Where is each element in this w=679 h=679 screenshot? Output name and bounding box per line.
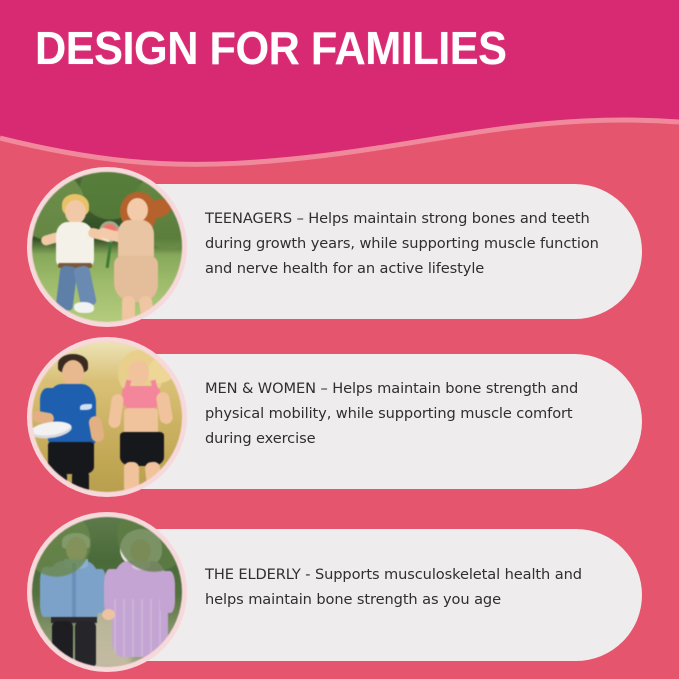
senior-woman-right-arm	[160, 571, 175, 613]
adult-woman-left-arm	[108, 393, 125, 428]
child-girl-head	[127, 198, 148, 222]
child-boy-shirt	[56, 222, 94, 267]
child-girl-right-leg	[138, 295, 154, 321]
senior-man-hair	[62, 533, 90, 549]
adult-man-left-leg	[50, 470, 67, 492]
senior-woman-head	[130, 539, 151, 563]
senior-woman-hair	[120, 529, 162, 567]
adult-man-head	[62, 360, 84, 386]
photo-the-elderly	[32, 517, 182, 667]
senior-woman-neckline	[132, 561, 150, 570]
senior-man-head	[66, 537, 87, 562]
child-boy-shoe	[74, 302, 94, 313]
senior-man-collar	[64, 559, 88, 569]
photo-men-and-women	[32, 342, 182, 492]
child-girl-left-leg	[122, 296, 135, 322]
photo-ring-men-and-women	[27, 337, 187, 497]
adult-man-shirt-logo	[80, 404, 92, 410]
card-text-men-and-women: MEN & WOMEN – Helps maintain bone streng…	[205, 376, 605, 451]
rows-container: TEENAGERS – Helps maintain strong bones …	[0, 0, 679, 679]
child-boy-right-leg	[73, 265, 97, 307]
infographic-page: { "header": { "title": "DESIGN FOR FAMIL…	[0, 0, 679, 679]
senior-man-right-leg	[75, 621, 96, 667]
photo-teenagers	[32, 172, 182, 322]
senior-woman-dress-pleats	[114, 599, 166, 657]
adult-woman-left-leg	[124, 462, 139, 492]
photo-ring-teenagers	[27, 167, 187, 327]
senior-woman-hand	[102, 609, 115, 620]
card-text-teenagers: TEENAGERS – Helps maintain strong bones …	[205, 206, 605, 281]
senior-man-left-leg	[52, 621, 73, 667]
child-boy-head	[65, 200, 86, 224]
photo-ring-the-elderly	[27, 512, 187, 672]
senior-man-shirt-placket	[72, 563, 76, 619]
adult-woman-shorts	[120, 432, 164, 466]
adult-man-right-leg	[72, 470, 89, 492]
child-girl-skirt	[114, 256, 158, 302]
card-text-the-elderly: THE ELDERLY - Supports musculoskeletal h…	[205, 562, 605, 612]
adult-woman-right-arm	[155, 391, 173, 425]
adult-woman-right-leg	[144, 461, 162, 492]
